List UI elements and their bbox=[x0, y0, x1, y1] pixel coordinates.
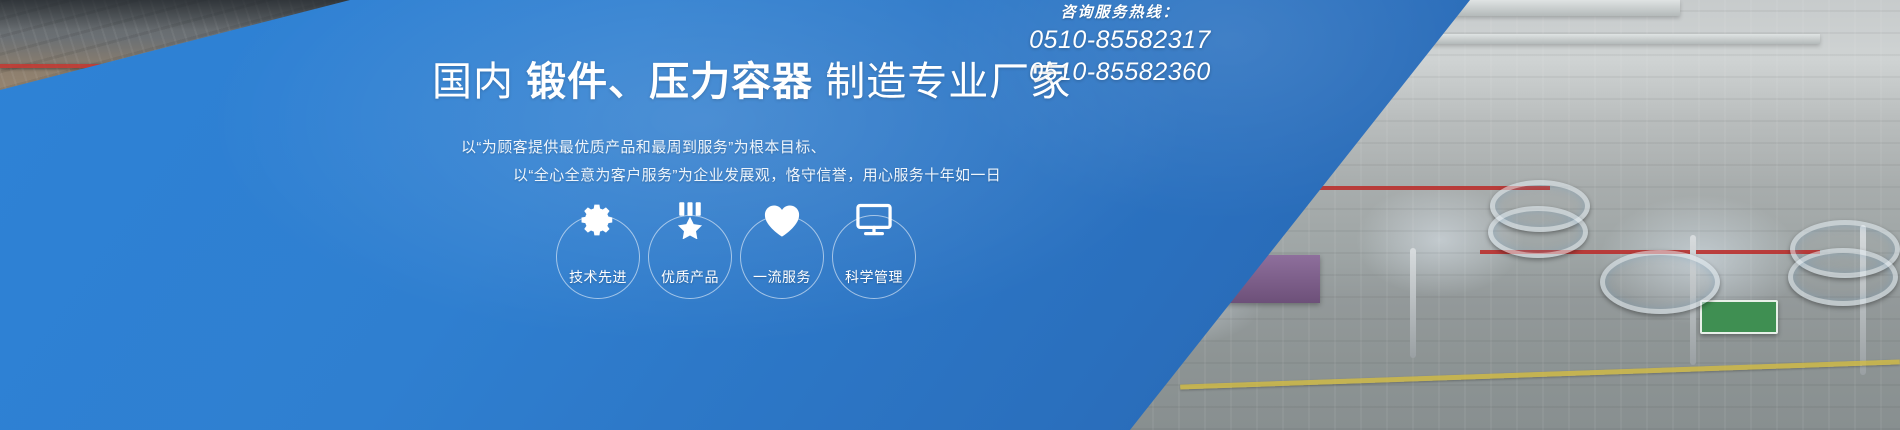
feature-badge-service[interactable]: 一流服务 bbox=[740, 215, 824, 299]
subtitle-line-1: 以“为顾客提供最优质产品和最周到服务”为根本目标、 bbox=[461, 137, 826, 159]
feature-label: 科学管理 bbox=[845, 268, 903, 286]
monitor-icon bbox=[854, 200, 894, 240]
hotline-label: 咨询服务热线： bbox=[985, 2, 1255, 24]
gear-icon bbox=[578, 200, 618, 240]
feature-badge-technology[interactable]: 技术先进 bbox=[556, 215, 640, 299]
stanchion bbox=[1410, 248, 1416, 358]
medal-icon bbox=[670, 200, 710, 240]
hotline-block: 咨询服务热线： 0510-85582317 0510-85582360 bbox=[985, 2, 1255, 88]
hotline-number-primary[interactable]: 0510-85582317 bbox=[985, 24, 1255, 56]
page-title: 国内 锻件、压力容器 制造专业厂家 bbox=[432, 58, 1071, 106]
title-prefix: 国内 bbox=[432, 60, 514, 104]
feature-badge-management[interactable]: 科学管理 bbox=[832, 215, 916, 299]
heart-icon bbox=[762, 200, 802, 240]
title-emphasis: 锻件、压力容器 bbox=[526, 60, 813, 104]
feature-label: 技术先进 bbox=[569, 268, 627, 286]
feature-label: 一流服务 bbox=[753, 268, 811, 286]
forged-ring bbox=[1600, 250, 1720, 314]
promo-banner: 国内 锻件、压力容器 制造专业厂家 以“为顾客提供最优质产品和最周到服务”为根本… bbox=[0, 0, 1900, 430]
green-sign bbox=[1700, 300, 1778, 334]
forged-ring bbox=[1488, 206, 1588, 258]
hotline-number-secondary[interactable]: 0510-85582360 bbox=[985, 56, 1255, 88]
subtitle-line-2: 以“全心全意为客户服务”为企业发展观，恪守信誉，用心服务十年如一日 bbox=[513, 165, 1001, 187]
feature-badge-quality[interactable]: 优质产品 bbox=[648, 215, 732, 299]
feature-label: 优质产品 bbox=[661, 268, 719, 286]
forged-ring bbox=[1788, 248, 1898, 306]
feature-badges: 技术先进 优质产品 一流服务 bbox=[556, 215, 916, 299]
